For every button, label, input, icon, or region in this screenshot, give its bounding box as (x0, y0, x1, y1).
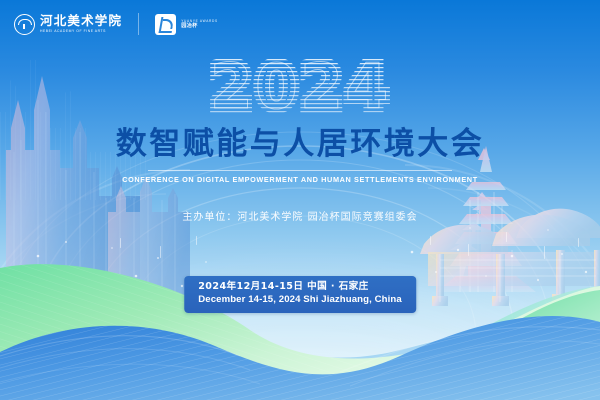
yuanye-badge-icon (155, 14, 176, 35)
academy-name-cn: 河北美术学院 (40, 14, 122, 27)
date-badge: 2024年12月14-15日 中国 · 石家庄 December 14-15, … (184, 276, 416, 313)
academy-name-en: HEBEI ACADEMY OF FINE ARTS (40, 29, 122, 34)
subtitle-english: CONFERENCE ON DIGITAL EMPOWERMENT AND HU… (0, 175, 600, 184)
yuanye-name-cn: 园冶杯 (181, 23, 218, 30)
organizer-line: 主办单位：河北美术学院 园冶杯国际竞赛组委会 (0, 208, 600, 223)
academy-emblem-icon (14, 14, 35, 35)
title-divider (148, 170, 452, 171)
yuanye-name-en: YUANYE AWARDS (181, 19, 218, 23)
logo-yuanye-awards[interactable]: YUANYE AWARDS 园冶杯 (155, 14, 218, 35)
date-chinese: 2024年12月14-15日 中国 · 石家庄 (198, 281, 402, 294)
conference-banner: 河北美术学院 HEBEI ACADEMY OF FINE ARTS YUANYE… (0, 0, 600, 400)
year-2024-graphic: 2024 2024 (0, 55, 600, 117)
page-title: 数智赋能与人居环境大会 (0, 127, 600, 161)
logo-divider (138, 13, 139, 35)
date-english: December 14-15, 2024 Shi Jiazhuang, Chin… (198, 294, 402, 307)
logo-hebei-academy[interactable]: 河北美术学院 HEBEI ACADEMY OF FINE ARTS (14, 14, 122, 35)
header-logos: 河北美术学院 HEBEI ACADEMY OF FINE ARTS YUANYE… (14, 13, 218, 35)
year-text: 2024 (210, 55, 391, 117)
